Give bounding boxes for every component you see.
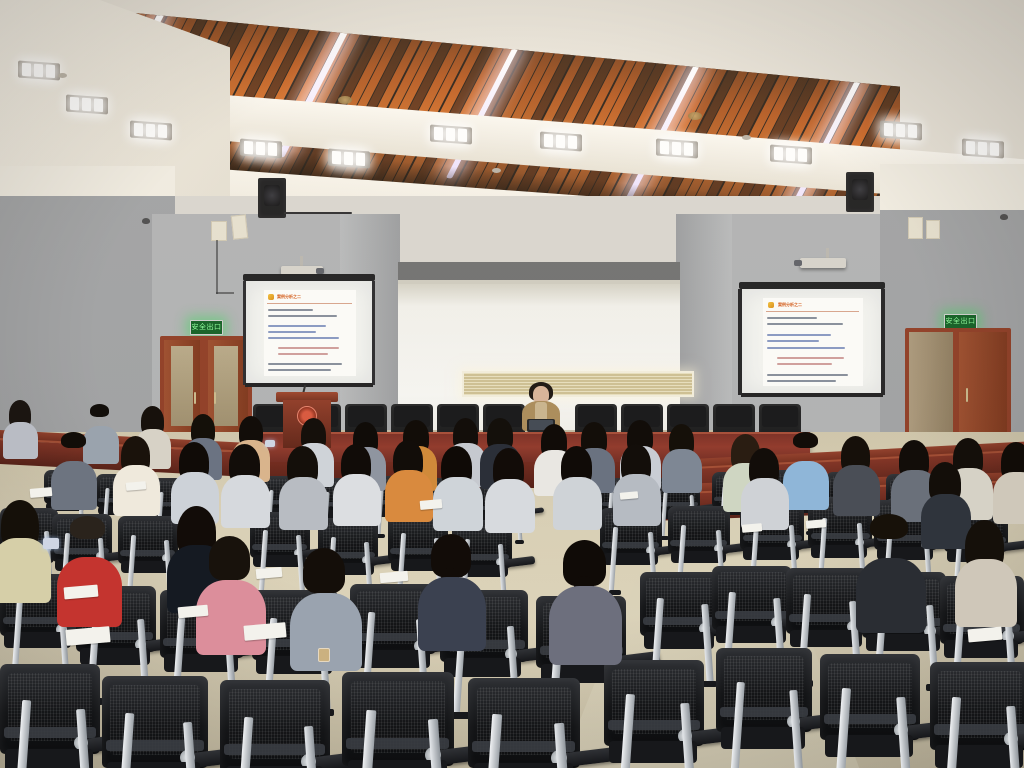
air-vent-grille — [462, 371, 694, 397]
wall-conduit — [216, 240, 218, 294]
slide-text-line — [767, 317, 817, 319]
slide-text-line — [777, 357, 844, 359]
slide-bullet-icon — [768, 302, 774, 308]
slide-text-line — [278, 353, 328, 355]
lecture-hall-photo: 安全出口 安全出口 — [0, 0, 1024, 768]
upper-wall-right — [880, 164, 1024, 210]
handout-paper — [30, 487, 53, 498]
screen-edge-left-r — [738, 289, 742, 395]
smartphone[interactable] — [265, 440, 275, 447]
slide-text-line — [767, 340, 819, 342]
right-slide: 案例分析之二 — [763, 298, 863, 386]
slide-text-line — [268, 331, 316, 333]
ceiling-downlight — [66, 95, 108, 115]
audience-chair[interactable] — [930, 662, 1024, 768]
slide-text-line — [268, 309, 313, 311]
ceiling-downlight — [328, 149, 370, 169]
audience-chair[interactable] — [102, 676, 208, 768]
audience-chair[interactable] — [820, 654, 920, 768]
audience-chair[interactable] — [0, 664, 100, 768]
audience-chair[interactable] — [716, 648, 812, 768]
speaker-cable — [284, 212, 352, 214]
left-slide-title: 案例分析之二 — [277, 294, 301, 300]
slide-text-line — [767, 374, 848, 376]
door-right-leaf-a[interactable] — [909, 332, 953, 440]
wall-bracket-left-2 — [231, 214, 248, 239]
ceiling-downlight — [962, 139, 1004, 159]
ceiling-downlight — [240, 139, 282, 159]
slide-text-line — [268, 369, 331, 371]
audience-chair[interactable] — [220, 680, 330, 768]
exit-sign-left-label: 安全出口 — [192, 324, 222, 331]
right-projection-screen: 案例分析之二 — [741, 289, 883, 395]
ceiling-downlight — [18, 61, 60, 81]
slide-text-line — [278, 347, 339, 349]
slide-text-line — [268, 363, 342, 365]
smartphone[interactable] — [43, 538, 59, 549]
screen-edge-left — [243, 281, 246, 385]
torso — [741, 478, 789, 530]
torso — [333, 474, 381, 526]
slide-bullet-icon — [268, 294, 274, 300]
wall-bracket-right — [908, 217, 923, 239]
torso — [783, 461, 829, 510]
wall-panel-left — [0, 196, 175, 436]
smoke-detector-icon — [58, 73, 67, 78]
wall-conduit — [216, 292, 234, 294]
door-frame-right[interactable] — [905, 328, 1011, 440]
slide-text-line — [268, 337, 339, 339]
screen-edge-right-r — [881, 289, 885, 395]
slide-text-line — [767, 323, 843, 325]
chair-foot — [515, 540, 524, 544]
executive-chair[interactable] — [713, 404, 755, 434]
slide-text-line — [777, 363, 832, 365]
exit-sign-right-label: 安全出口 — [946, 318, 976, 325]
exit-sign-left: 安全出口 — [190, 320, 223, 335]
torso — [955, 559, 1017, 627]
ceiling-downlight — [130, 121, 172, 141]
executive-chair[interactable] — [759, 404, 801, 434]
ceiling-downlight — [770, 145, 812, 165]
slide-text-line — [268, 325, 326, 327]
camera-icon — [142, 218, 150, 224]
torso — [833, 465, 880, 516]
screen-bottom-bar-right — [741, 393, 883, 397]
smoke-detector-icon — [742, 135, 751, 140]
door-right-leaf-b[interactable] — [959, 332, 1007, 440]
left-slide: 案例分析之二 — [264, 290, 356, 376]
smoke-detector-icon — [492, 168, 501, 173]
slide-text-line — [767, 334, 831, 336]
torso — [221, 475, 270, 528]
handout-paper — [420, 499, 443, 510]
loudspeaker-right — [846, 172, 874, 212]
ceiling-downlight — [430, 125, 472, 145]
projector-lens-right — [794, 260, 802, 266]
left-projection-screen: 案例分析之二 — [245, 281, 373, 385]
projector-right — [800, 258, 846, 268]
torso — [196, 580, 266, 655]
camera-icon — [1000, 214, 1008, 220]
slide-text-line — [767, 380, 836, 382]
torso — [921, 494, 971, 549]
ceiling-speaker-dome — [688, 112, 702, 120]
wall-bracket-right-2 — [926, 220, 940, 239]
torso — [993, 472, 1024, 524]
slide-text-line — [767, 347, 845, 349]
torso — [113, 465, 160, 516]
torso — [3, 422, 38, 459]
slide-text-line — [268, 315, 337, 317]
screen-edge-right — [372, 281, 375, 385]
loudspeaker-left — [258, 178, 286, 218]
ceiling-downlight — [656, 139, 698, 159]
exit-sign-right: 安全出口 — [944, 314, 977, 329]
torso — [553, 477, 602, 530]
torso — [485, 479, 535, 533]
right-slide-title: 案例分析之二 — [778, 302, 802, 308]
ceiling-downlight — [880, 121, 922, 141]
torso — [549, 586, 622, 665]
audience-chair[interactable] — [468, 678, 580, 768]
torso — [279, 477, 328, 530]
torso — [51, 461, 97, 510]
ceiling-downlight — [540, 132, 582, 152]
screen-case-right — [739, 282, 885, 289]
torso — [856, 558, 926, 633]
torso — [385, 470, 433, 522]
drinking-cup — [318, 648, 330, 662]
backwall-header-band — [398, 262, 680, 282]
torso — [662, 449, 702, 493]
wall-bracket-left — [211, 221, 227, 241]
torso — [613, 474, 661, 526]
ceiling-speaker-dome — [338, 96, 352, 104]
audience-chair[interactable] — [342, 672, 454, 768]
screen-bottom-bar-left — [245, 383, 373, 387]
torso — [418, 577, 486, 651]
torso — [83, 426, 119, 464]
screen-case-left — [243, 274, 375, 281]
audience-chair[interactable] — [604, 660, 704, 768]
